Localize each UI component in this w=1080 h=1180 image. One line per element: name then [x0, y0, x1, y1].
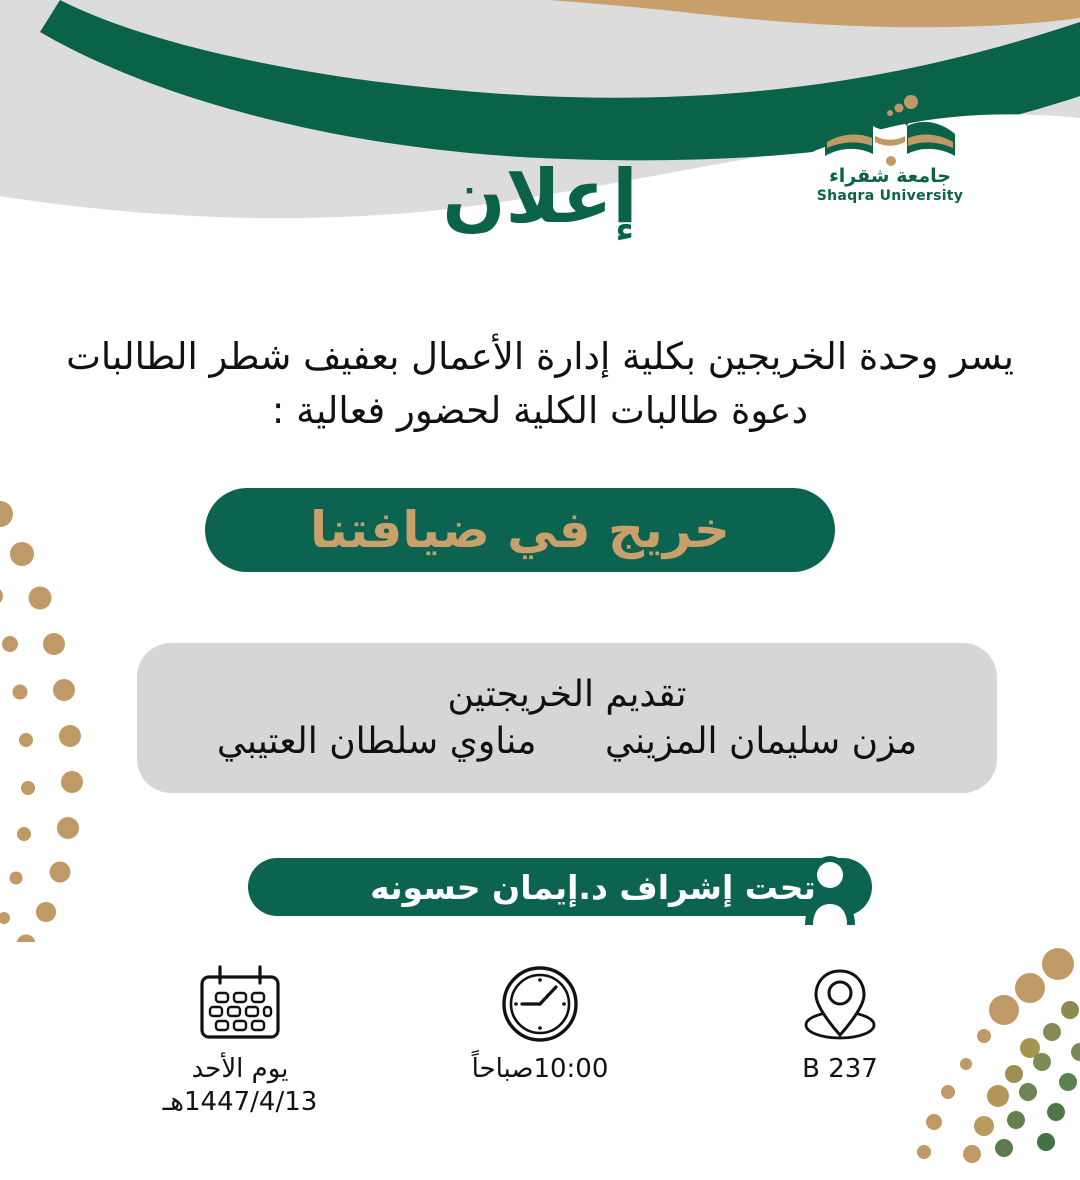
intro-paragraph: يسر وحدة الخريجين بكلية إدارة الأعمال بع… [0, 330, 1080, 437]
event-title-text: خريج في ضيافتنا [310, 501, 730, 559]
wave-tan-band [160, 0, 1080, 27]
detail-time-line-1: 10:00صباحاً [390, 1053, 690, 1086]
presenters-heading: تقديم الخريجتين [448, 674, 687, 715]
intro-line-2: دعوة طالبات الكلية لحضور فعالية : [0, 384, 1080, 438]
detail-item-date: يوم الأحد 1447/4/13هـ [90, 963, 390, 1118]
page-title: إعلان [0, 160, 1080, 234]
calendar-icon [194, 963, 286, 1045]
detail-item-time: 10:00صباحاً [390, 963, 690, 1086]
presenters-box: تقديم الخريجتين مزن سليمان المزيني مناوي… [137, 643, 997, 793]
detail-date-line-1: يوم الأحد [90, 1053, 390, 1086]
detail-item-location: B 237 [690, 963, 990, 1086]
supervisor-text: تحت إشراف د.إيمان حسونه [304, 868, 816, 907]
intro-line-1: يسر وحدة الخريجين بكلية إدارة الأعمال بع… [0, 330, 1080, 384]
detail-location-line-1: B 237 [690, 1053, 990, 1086]
presenters-names: مزن سليمان المزيني مناوي سلطان العتيبي [217, 721, 917, 762]
supervisor-banner: تحت إشراف د.إيمان حسونه [248, 858, 872, 916]
open-book-logo-icon [815, 88, 965, 168]
location-pin-icon [794, 963, 886, 1045]
detail-date-label: يوم الأحد 1447/4/13هـ [90, 1053, 390, 1118]
event-title-banner: خريج في ضيافتنا [205, 488, 835, 572]
detail-date-line-2: 1447/4/13هـ [90, 1086, 390, 1119]
person-icon [795, 853, 865, 925]
detail-time-label: 10:00صباحاً [390, 1053, 690, 1086]
clock-icon [496, 963, 584, 1045]
event-details-row: يوم الأحد 1447/4/13هـ 10:00صباحاً B 237 [0, 963, 1080, 1118]
detail-location-label: B 237 [690, 1053, 990, 1086]
